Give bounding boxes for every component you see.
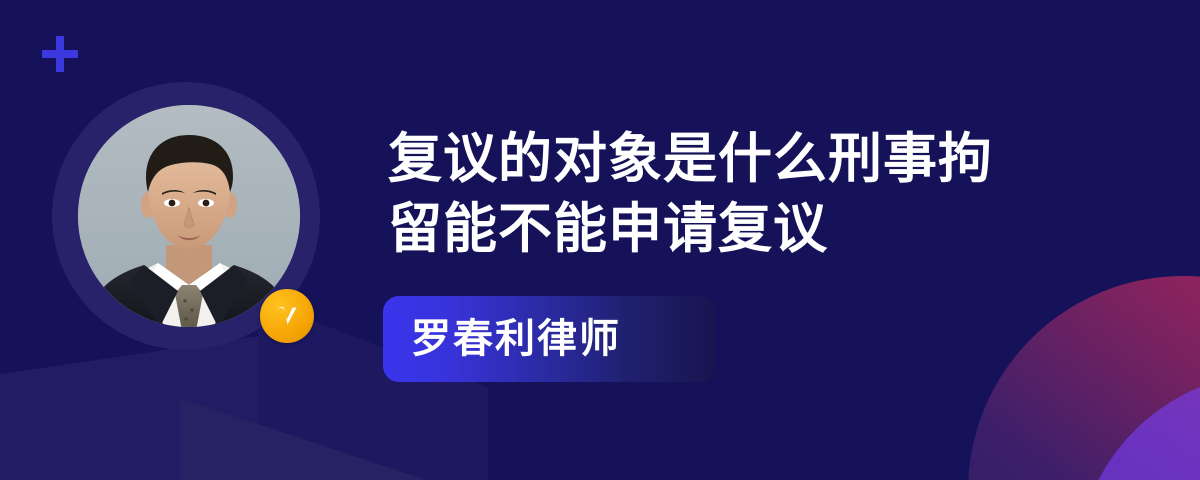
avatar-photo: [78, 105, 300, 327]
avatar[interactable]: [78, 105, 300, 327]
author-name-label: 罗春利律师: [411, 319, 621, 359]
headline-block: 复议的对象是什么刑事拘 留能不能申请复议: [388, 124, 1118, 264]
verified-badge-icon: [260, 289, 314, 343]
lawyer-article-banner: 复议的对象是什么刑事拘 留能不能申请复议 罗春利律师: [0, 0, 1200, 480]
page-title: 复议的对象是什么刑事拘 留能不能申请复议: [388, 124, 1028, 264]
plus-icon: [42, 36, 78, 72]
author-name-pill[interactable]: 罗春利律师: [383, 296, 715, 382]
